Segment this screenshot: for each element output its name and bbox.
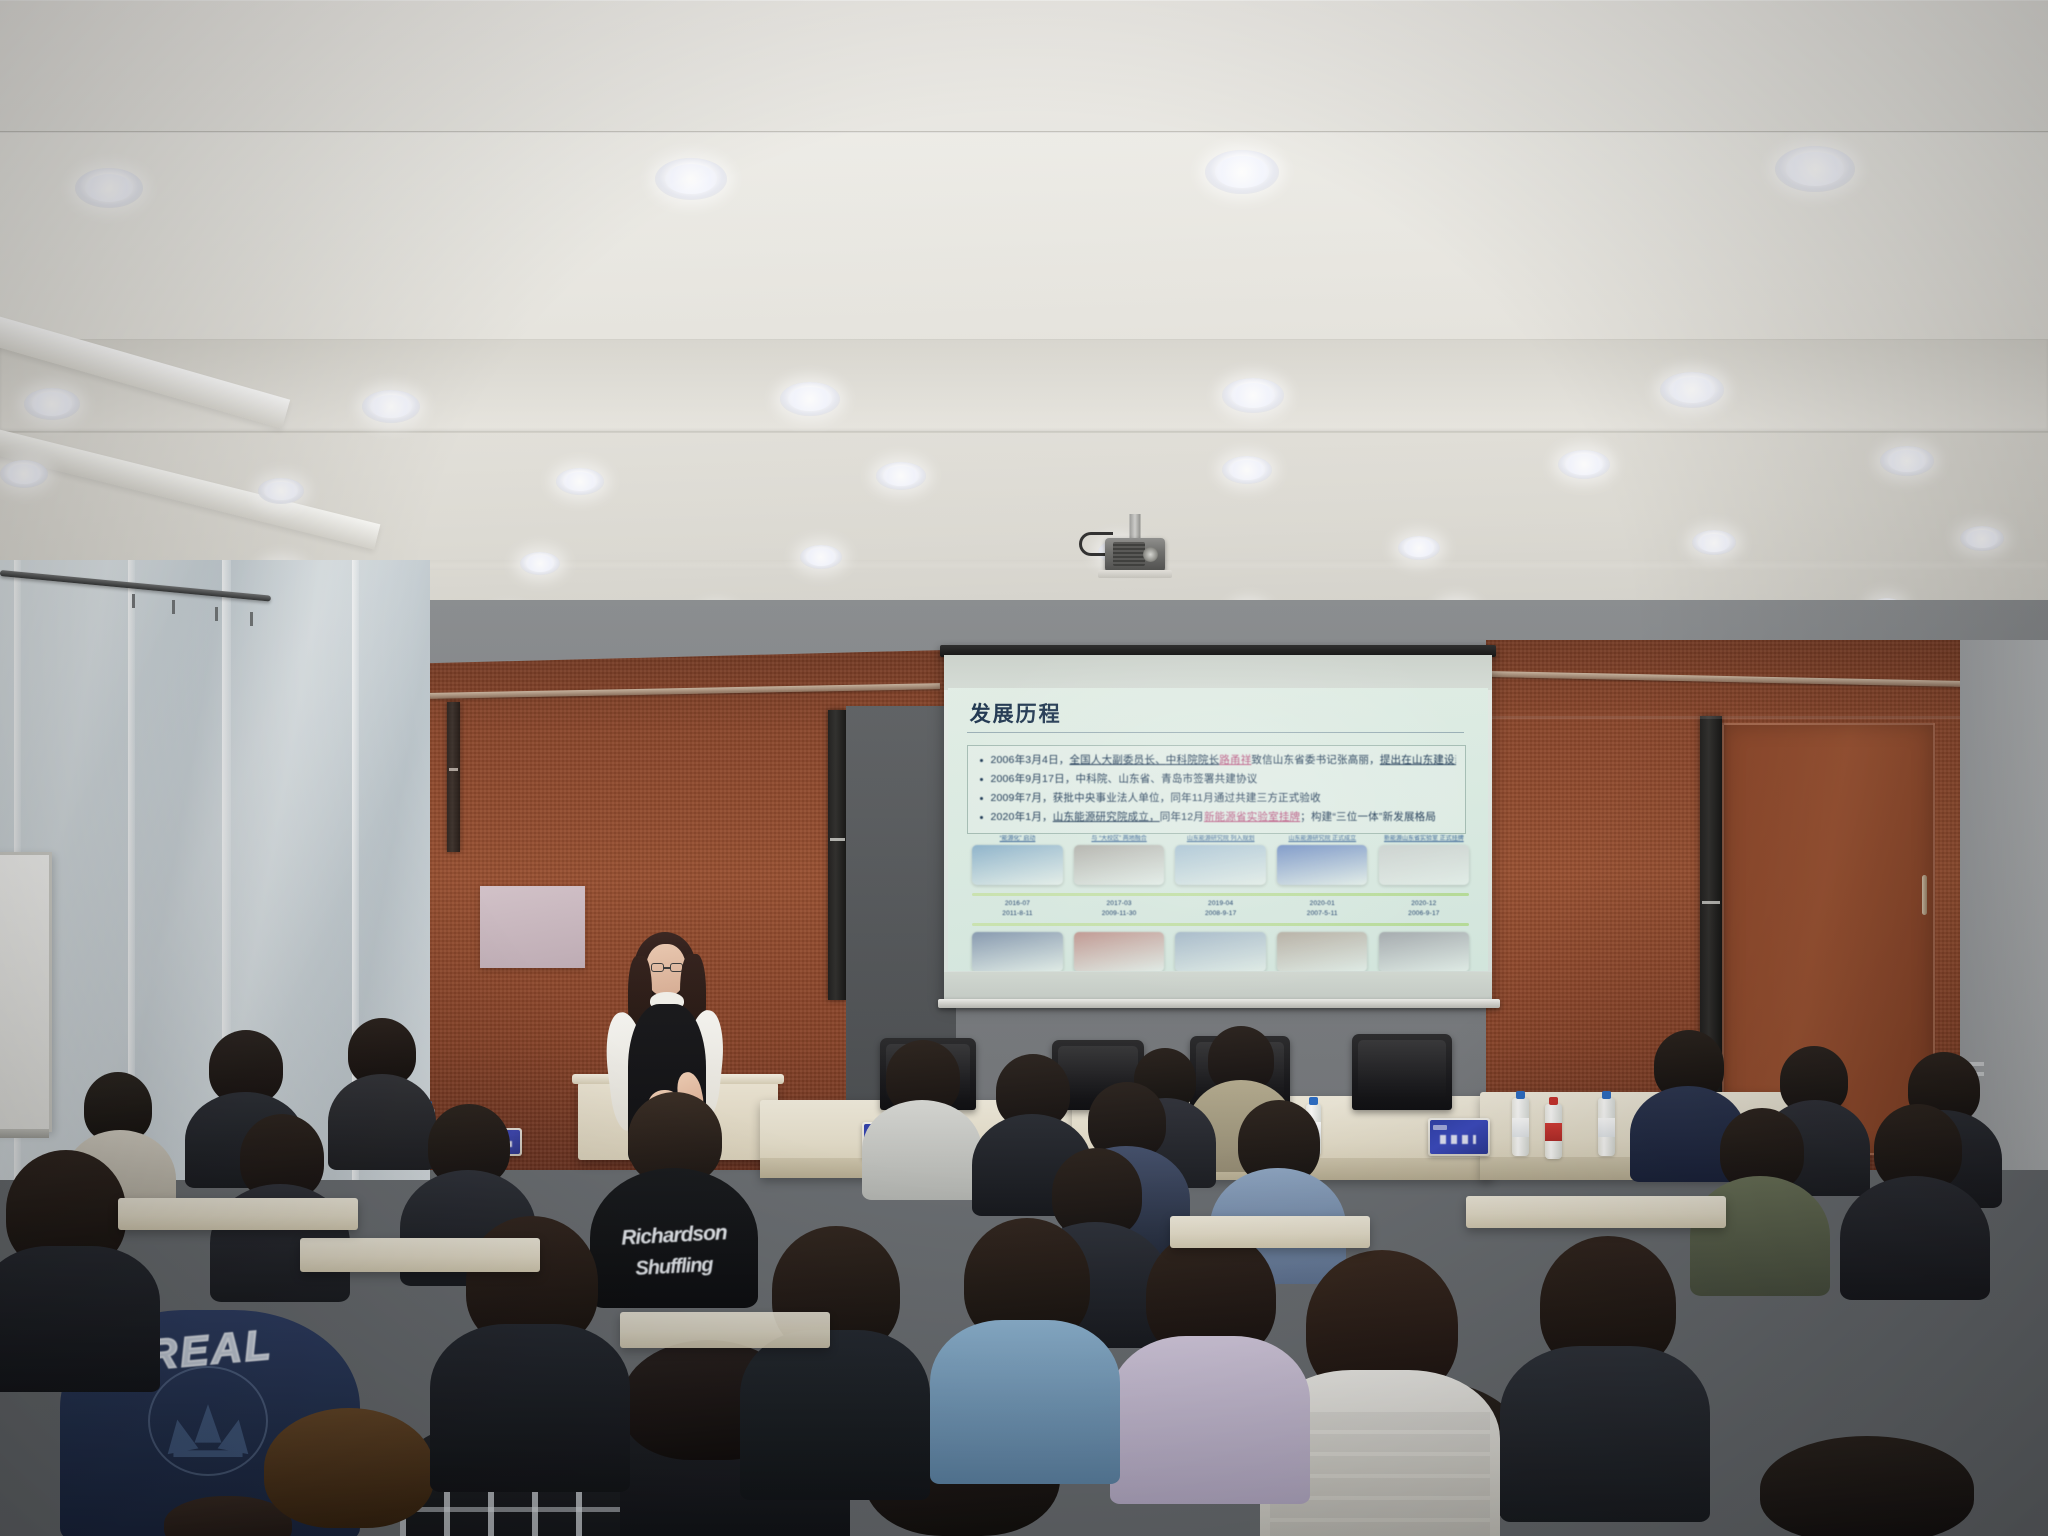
timeline-axis-bottom: [972, 919, 1469, 928]
hair: [1760, 1436, 1974, 1536]
projection-screen-foot: [938, 999, 1500, 1008]
timeline-caption-text: 山东能源研究院 正式成立: [1277, 835, 1367, 843]
recessed-downlight: [520, 552, 560, 575]
curtain-hook: [215, 607, 218, 621]
whiteboard: [0, 852, 52, 1132]
timeline-thumbnail-image: [972, 932, 1062, 971]
timeline-thumbnail: [1379, 930, 1469, 971]
screen-top-band: [944, 655, 1492, 690]
timeline-thumbnail-image: [1277, 845, 1367, 885]
recessed-downlight: [0, 460, 48, 488]
timeline-caption-text: 与 “大校区” 两地融合: [1074, 835, 1164, 843]
slide: 发展历程 2006年3月4日，全国人大副委员长、中科院院长路甬祥致信山东省委书记…: [948, 688, 1488, 971]
timeline-caption: 新能源山东省实验室 正式挂牌: [1379, 835, 1469, 843]
lecture-desk: [300, 1238, 540, 1272]
lecture-desk: [620, 1312, 830, 1348]
timeline-date: 2008-9-17: [1175, 910, 1265, 917]
timeline-date: 2011-8-11: [972, 910, 1062, 917]
timeline-thumbnail: [1379, 843, 1469, 887]
projector-plate: [1098, 570, 1172, 578]
slide-bullet: 2006年3月4日，全国人大副委员长、中科院院长路甬祥致信山东省委书记张高丽，提…: [977, 753, 1456, 768]
timeline-top-thumbs: [972, 843, 1469, 887]
recessed-downlight: [780, 382, 840, 416]
timeline-date: 2019-04: [1175, 900, 1265, 907]
timeline-caption: 山东能源研究院 列入规划: [1175, 835, 1265, 843]
timeline-thumbnail: [972, 930, 1062, 971]
curtain-hook: [250, 612, 253, 626]
projector-vent: [1113, 542, 1145, 566]
shoulders: [1690, 1176, 1830, 1296]
audience-member: [1740, 1436, 1990, 1536]
audience-member: [930, 1218, 1120, 1478]
audience-member: [740, 1226, 930, 1496]
timeline-bottom-thumbs: [972, 930, 1469, 971]
recessed-downlight: [1222, 456, 1272, 484]
timeline-thumbnail: [1175, 930, 1265, 971]
recessed-downlight: [75, 168, 143, 208]
recessed-downlight: [1398, 536, 1440, 560]
timeline-date: 2007-5-11: [1277, 910, 1367, 917]
recessed-downlight: [1880, 446, 1934, 476]
lecture-desk: [1170, 1216, 1370, 1248]
timeline-thumbnail-image: [1074, 932, 1164, 971]
projection-screen: 发展历程 2006年3月4日，全国人大副委员长、中科院院长路甬祥致信山东省委书记…: [944, 655, 1492, 1003]
timeline-thumbnail-image: [1074, 845, 1164, 885]
timeline-date: 2020-01: [1277, 900, 1367, 907]
recessed-downlight: [1660, 372, 1724, 408]
recessed-downlight: [800, 545, 842, 569]
timeline-thumbnail-image: [1379, 932, 1469, 971]
recessed-downlight: [362, 390, 420, 423]
timeline-thumbnail-image: [972, 845, 1062, 885]
shoulders: [0, 1246, 160, 1392]
recessed-downlight: [1692, 530, 1736, 555]
water-bottle[interactable]: [1512, 1098, 1529, 1156]
timeline-thumbnail: [1277, 843, 1367, 887]
timeline-thumbnail: [1074, 930, 1164, 971]
timeline-top-dates: 2016-072017-032019-042020-012020-12: [972, 900, 1469, 907]
recessed-downlight: [556, 468, 604, 495]
conference-chair[interactable]: [1352, 1034, 1452, 1110]
slide-timeline: “能源化” 启动与 “大校区” 两地融合山东能源研究院 列入规划山东能源研究院 …: [972, 835, 1469, 971]
timeline-thumbnail: [1175, 843, 1265, 887]
shoulders: [1500, 1346, 1710, 1522]
recessed-downlight: [1960, 526, 2004, 551]
lecture-hall-scene: 发展历程 2006年3月4日，全国人大副委员长、中科院院长路甬祥致信山东省委书记…: [0, 0, 2048, 1536]
timeline-caption-text: “能源化” 启动: [972, 835, 1062, 843]
audience-member: [0, 1150, 160, 1380]
slide-bullet: 2009年7月，获批中央事业法人单位，同年11月通过共建三方正式验收: [977, 791, 1456, 806]
curtain-hook: [172, 600, 175, 614]
ceiling-projector: [1105, 514, 1165, 584]
wall-plaque: [480, 886, 585, 968]
desk-monitor[interactable]: [1428, 1118, 1490, 1156]
recessed-downlight: [1205, 150, 1279, 194]
timeline-thumbnail-image: [1175, 932, 1265, 971]
timeline-thumbnail-image: [1277, 932, 1367, 971]
timeline-date: 2016-07: [972, 900, 1062, 907]
projector-lens: [1143, 547, 1158, 562]
timeline-thumbnail-image: [1175, 845, 1265, 885]
shoulders: [862, 1100, 982, 1200]
recessed-downlight: [1222, 378, 1284, 413]
recessed-downlight: [1775, 146, 1855, 192]
slide-bullet: 2006年9月17日，中科院、山东省、青岛市签署共建协议: [977, 772, 1456, 787]
recessed-downlight: [1558, 450, 1610, 479]
recessed-downlight: [655, 158, 727, 200]
timeline-axis-top: [972, 889, 1469, 898]
glasses-icon: [651, 963, 683, 973]
shoulders: [1840, 1176, 1990, 1300]
audience-member: [248, 1408, 448, 1536]
slide-title-rule: [967, 732, 1463, 733]
recessed-downlight: [24, 388, 80, 420]
audience-member: [1500, 1236, 1710, 1516]
timeline-bottom-dates: 2011-8-112009-11-302008-9-172007-5-11200…: [972, 910, 1469, 917]
recessed-downlight: [876, 462, 926, 490]
curtain-hook: [132, 594, 135, 608]
lecture-desk: [1466, 1196, 1726, 1228]
door-handle[interactable]: [1922, 875, 1927, 915]
timeline-caption: “能源化” 启动: [972, 835, 1062, 843]
timeline-thumbnail: [972, 843, 1062, 887]
timeline-caption-text: 新能源山东省实验室 正式挂牌: [1379, 835, 1469, 843]
timeline-date: 2017-03: [1074, 900, 1164, 907]
recessed-downlight: [258, 478, 304, 504]
hair: [264, 1408, 434, 1528]
acoustic-strip: [447, 702, 460, 852]
shoulders: [930, 1320, 1120, 1484]
whiteboard-tray: [0, 1129, 49, 1138]
timeline-caption-text: 山东能源研究院 列入规划: [1175, 835, 1265, 843]
shoulders: [1110, 1336, 1310, 1504]
slide-bullet: 2020年1月，山东能源研究院成立，同年12月新能源省实验室挂牌；构建“三位一体…: [977, 810, 1456, 825]
acoustic-strip: [828, 710, 847, 1000]
timeline-thumbnail-image: [1379, 845, 1469, 885]
audience-member: [1110, 1230, 1310, 1500]
projector-mount-pole: [1130, 514, 1141, 540]
audience-member: [1840, 1104, 1990, 1294]
timeline-thumbnail: [1074, 843, 1164, 887]
water-bottle[interactable]: [1545, 1104, 1562, 1159]
lecture-desk: [118, 1198, 358, 1230]
shoulders: [740, 1330, 930, 1500]
slide-title: 发展历程: [970, 698, 1062, 728]
timeline-caption: 山东能源研究院 正式成立: [1277, 835, 1367, 843]
timeline-date: 2020-12: [1379, 900, 1469, 907]
timeline-caption: 与 “大校区” 两地融合: [1074, 835, 1164, 843]
audience-member: [862, 1040, 982, 1198]
timeline-thumbnail: [1277, 930, 1367, 971]
timeline-date: 2009-11-30: [1074, 910, 1164, 917]
slide-bullet-box: 2006年3月4日，全国人大副委员长、中科院院长路甬祥致信山东省委书记张高丽，提…: [967, 745, 1466, 835]
timeline-date: 2006-9-17: [1379, 910, 1469, 917]
projector-body: [1105, 538, 1165, 572]
timeline-top-captions: “能源化” 启动与 “大校区” 两地融合山东能源研究院 列入规划山东能源研究院 …: [972, 835, 1469, 843]
water-bottle[interactable]: [1598, 1098, 1615, 1156]
wall-seam: [1486, 716, 1968, 719]
shoulders: [430, 1324, 630, 1492]
